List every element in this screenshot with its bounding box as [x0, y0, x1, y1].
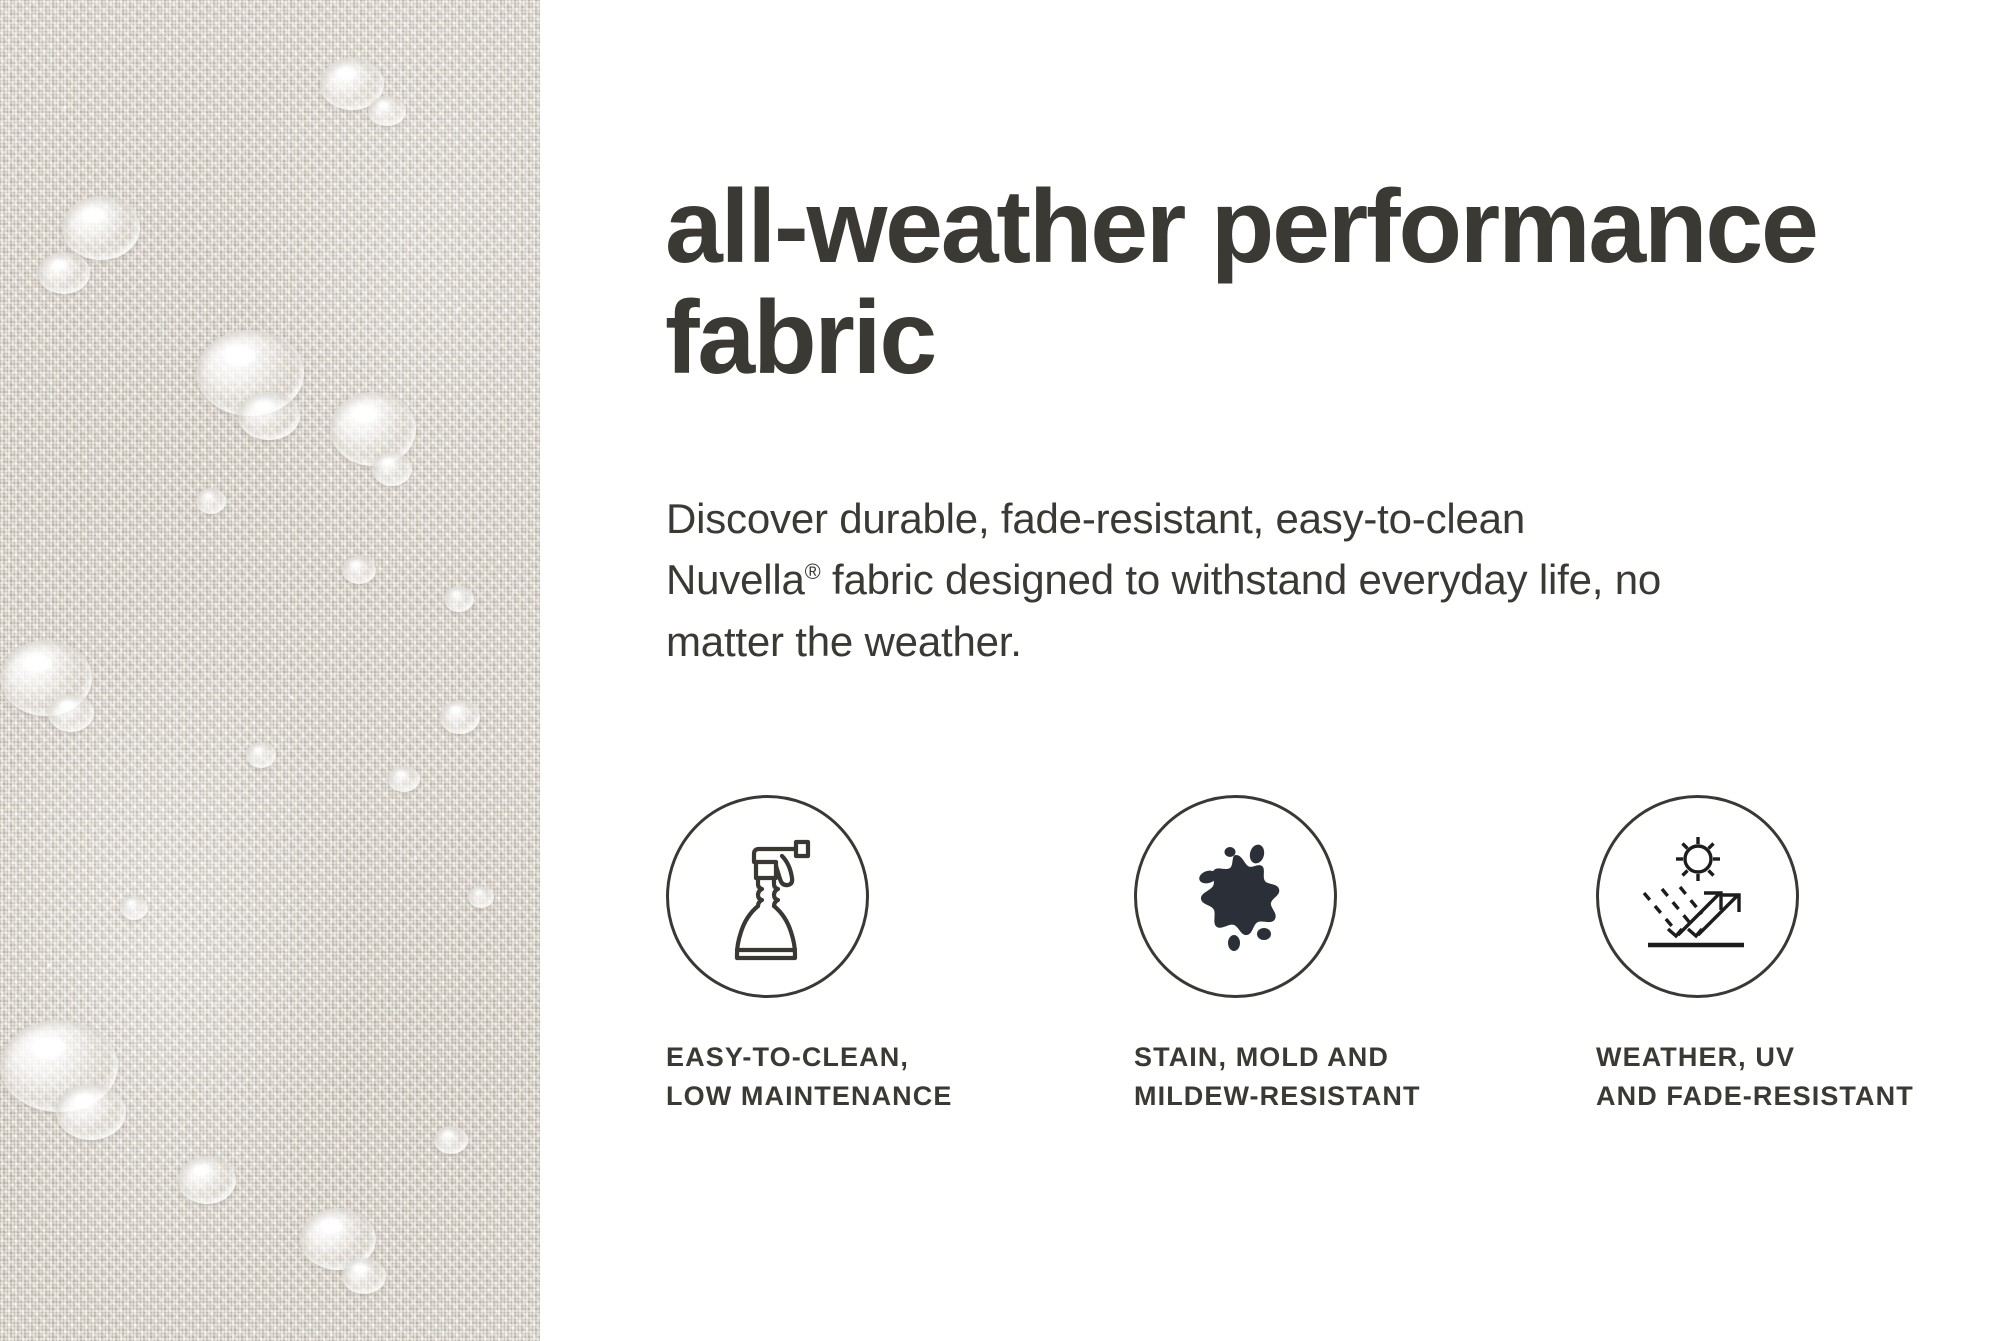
water-droplet [444, 586, 474, 612]
water-droplet [468, 886, 494, 908]
feature-item-stain-resistant: STAIN, MOLD AND MILDEW-RESISTANT [1126, 795, 1586, 1117]
stain-splat-icon [1134, 795, 1337, 998]
water-droplet [178, 1156, 236, 1204]
water-droplet [196, 488, 226, 514]
water-droplet [56, 1084, 126, 1140]
registered-trademark-symbol: ® [805, 559, 821, 584]
all-weather-fabric-banner: all-weather performance fabric Discover … [0, 0, 2010, 1341]
water-droplet [62, 196, 140, 260]
water-droplet [440, 700, 480, 734]
water-droplet [372, 452, 412, 486]
water-droplet [238, 392, 300, 440]
spray-bottle-icon [666, 795, 869, 998]
water-droplet [48, 694, 94, 732]
brand-name: Nuvella [666, 556, 805, 603]
subcopy-paragraph: Discover durable, fade-resistant, easy-t… [666, 488, 1666, 672]
fabric-photo-panel [0, 0, 540, 1341]
content-panel: all-weather performance fabric Discover … [540, 0, 2010, 1341]
sun-uv-reflect-icon [1596, 795, 1799, 998]
feature-item-uv-resistant: WEATHER, UV AND FADE-RESISTANT [1586, 795, 2010, 1117]
water-droplet [342, 556, 376, 584]
water-droplet [388, 766, 420, 792]
water-droplet [120, 896, 148, 920]
feature-caption: EASY-TO-CLEAN, LOW MAINTENANCE [666, 1038, 1126, 1117]
water-droplet [38, 252, 90, 294]
feature-list: EASY-TO-CLEAN, LOW MAINTENANCE STAIN, MO… [666, 795, 2010, 1117]
water-droplet [368, 96, 406, 126]
subcopy-line-2: fabric designed to withstand everyday li… [821, 556, 1604, 603]
feature-caption: WEATHER, UV AND FADE-RESISTANT [1596, 1038, 2010, 1117]
page-title: all-weather performance fabric [665, 172, 1965, 395]
water-droplets-group [0, 0, 540, 1341]
feature-caption: STAIN, MOLD AND MILDEW-RESISTANT [1134, 1038, 1586, 1117]
subcopy-line-1: Discover durable, fade-resistant, easy-t… [666, 495, 1525, 542]
feature-item-easy-to-clean: EASY-TO-CLEAN, LOW MAINTENANCE [666, 795, 1126, 1117]
water-droplet [342, 1258, 386, 1294]
water-droplet [246, 742, 276, 768]
water-droplet [434, 1126, 468, 1154]
